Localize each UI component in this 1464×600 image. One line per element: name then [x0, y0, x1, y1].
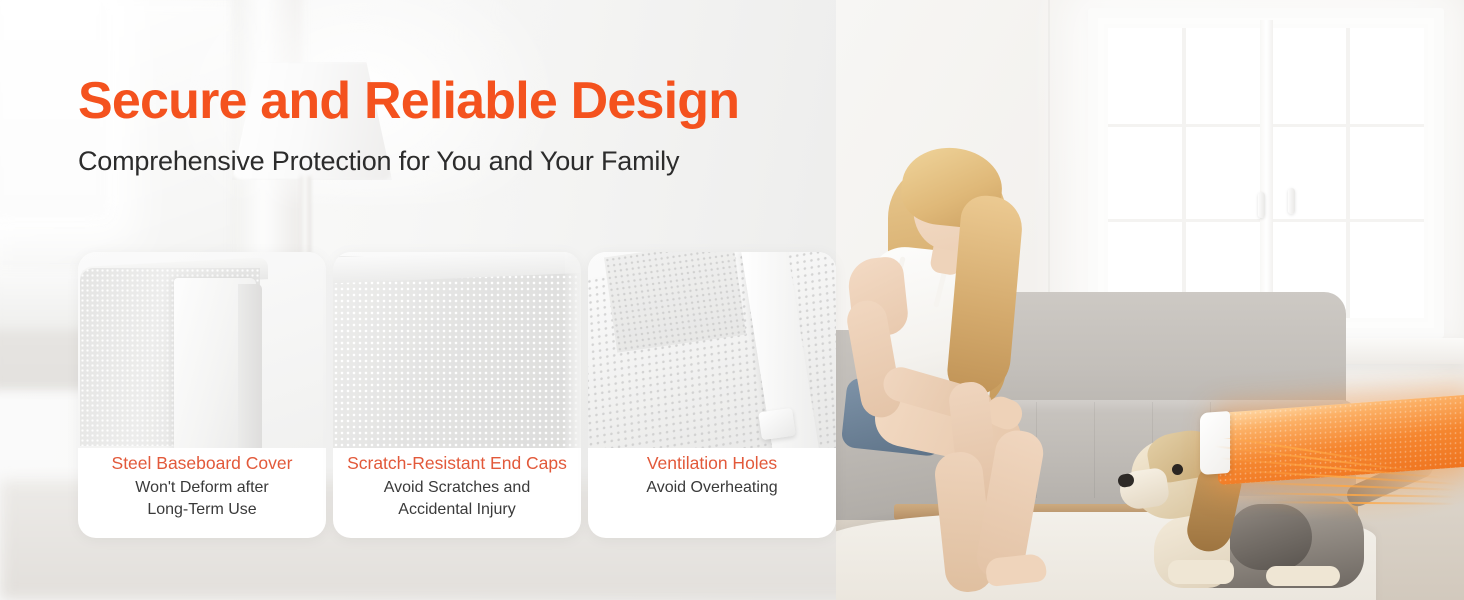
card-caption: Ventilation Holes Avoid Overheating — [588, 448, 836, 538]
cover-end-cap-side — [238, 284, 262, 448]
card-subtitle-line-1: Avoid Overheating — [598, 477, 826, 498]
card-title: Scratch-Resistant End Caps — [343, 452, 571, 476]
page-subtitle: Comprehensive Protection for You and You… — [78, 146, 679, 177]
card-title: Ventilation Holes — [598, 452, 826, 476]
window-center-post — [1260, 20, 1273, 326]
product-feature-banner: Secure and Reliable Design Comprehensive… — [0, 0, 1464, 600]
window-handle-left — [1258, 192, 1265, 218]
feature-card-ventilation-holes[interactable]: Ventilation Holes Avoid Overheating — [588, 252, 836, 538]
card-title: Steel Baseboard Cover — [88, 452, 316, 476]
window-mullion-horizontal — [1108, 124, 1260, 127]
feature-card-steel-baseboard-cover[interactable]: Steel Baseboard Cover Won't Deform after… — [78, 252, 326, 538]
window-mullion-vertical — [1182, 28, 1186, 318]
card-caption: Scratch-Resistant End Caps Avoid Scratch… — [333, 448, 581, 538]
perforated-mesh-closeup — [333, 256, 581, 448]
card-subtitle-line-2: Long-Term Use — [88, 499, 316, 520]
sofa-seam — [1094, 402, 1095, 498]
window-mullion-vertical — [1346, 28, 1350, 318]
card-image-steel-baseboard-cover — [78, 252, 326, 448]
window-mullion-horizontal — [1272, 219, 1424, 222]
window-mullion-horizontal — [1108, 219, 1260, 222]
dog-hind-leg — [1266, 566, 1340, 586]
dog-eye — [1172, 464, 1183, 475]
page-title: Secure and Reliable Design — [78, 74, 739, 129]
card-image-mesh-closeup — [333, 252, 581, 448]
window-frame — [1088, 8, 1444, 338]
card-caption: Steel Baseboard Cover Won't Deform after… — [78, 448, 326, 538]
warm-air-streaks — [1210, 438, 1464, 516]
card-subtitle-line-2: Accidental Injury — [343, 499, 571, 520]
feature-card-scratch-resistant-end-caps[interactable]: Scratch-Resistant End Caps Avoid Scratch… — [333, 252, 581, 538]
dog-front-leg — [1168, 560, 1234, 584]
window-sash-right — [1268, 24, 1428, 322]
card-subtitle-line-1: Won't Deform after — [88, 477, 316, 498]
card-subtitle-line-1: Avoid Scratches and — [343, 477, 571, 498]
wall-corner — [1048, 0, 1050, 330]
mounting-clip — [758, 408, 796, 440]
window-mullion-horizontal — [1272, 124, 1424, 127]
window-handle-right — [1288, 188, 1295, 214]
card-image-ventilation-holes — [588, 252, 836, 448]
baseboard-heater-warm-airflow — [1196, 398, 1464, 518]
feature-card-list: Steel Baseboard Cover Won't Deform after… — [78, 252, 838, 538]
window-sash-left — [1104, 24, 1264, 322]
mesh-right-edge — [565, 252, 581, 448]
